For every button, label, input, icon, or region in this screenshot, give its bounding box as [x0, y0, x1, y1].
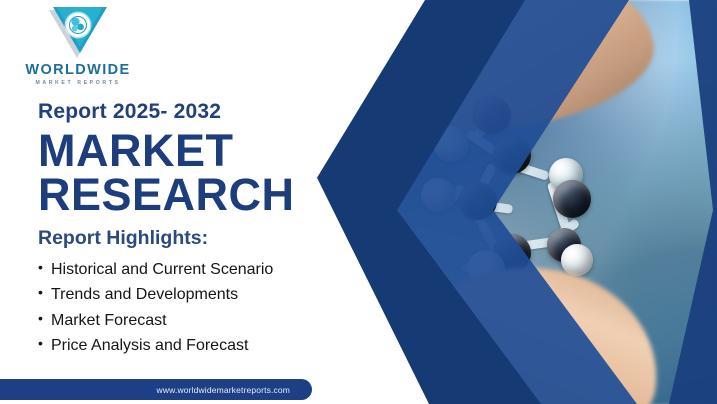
- highlights-list: Historical and Current Scenario Trends a…: [38, 257, 273, 358]
- globe-icon: [66, 13, 90, 37]
- chevron-overlay: [317, 0, 717, 404]
- headline-block: Report 2025- 2032 MARKET RESEARCH: [38, 100, 295, 217]
- list-item: Trends and Developments: [38, 282, 273, 307]
- page-title: MARKET RESEARCH: [38, 129, 295, 217]
- market-research-banner: WORLDWIDE MARKET REPORTS Report 2025- 20…: [0, 0, 717, 404]
- list-item: Historical and Current Scenario: [38, 257, 273, 282]
- list-item: Price Analysis and Forecast: [38, 333, 273, 358]
- artwork-panel: [317, 0, 717, 404]
- content-panel: WORLDWIDE MARKET REPORTS Report 2025- 20…: [0, 0, 360, 404]
- website-url-bar[interactable]: www.worldwidemarketreports.com: [0, 379, 312, 400]
- report-highlights: Report Highlights: Historical and Curren…: [38, 227, 273, 358]
- website-url: www.worldwidemarketreports.com: [157, 385, 290, 395]
- report-years: Report 2025- 2032: [38, 100, 295, 123]
- globe-in-triangle-icon: [47, 6, 109, 60]
- worldwide-logo[interactable]: WORLDWIDE MARKET REPORTS: [22, 6, 134, 82]
- highlights-heading: Report Highlights:: [38, 227, 273, 250]
- logo-tagline: MARKET REPORTS: [22, 80, 134, 86]
- logo-name: WORLDWIDE: [22, 62, 134, 78]
- list-item: Market Forecast: [38, 308, 273, 333]
